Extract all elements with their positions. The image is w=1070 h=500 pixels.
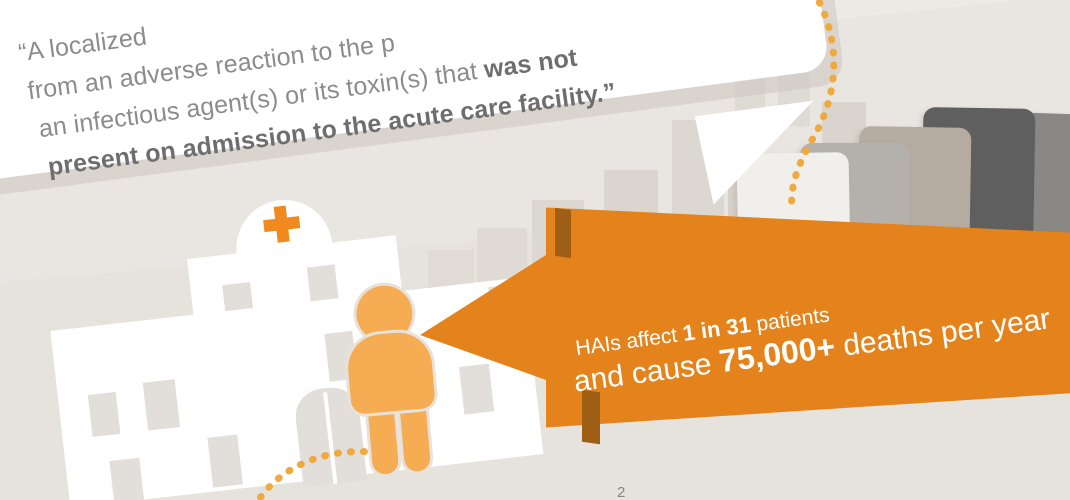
orange-patient-figure [337, 281, 453, 474]
arrow-fold-top [555, 208, 571, 258]
page-number: 2 [617, 484, 625, 500]
hospital-window [88, 392, 121, 437]
hospital-window [207, 435, 242, 488]
infographic-canvas: 4071 4071 4071 4071 4071 [0, 0, 1070, 500]
quote-line-3b: was not [482, 44, 579, 84]
patient-body [345, 330, 435, 415]
hospital-window [109, 458, 144, 500]
statistics-arrow-banner: HAIs affect 1 in 31 patients and cause 7… [420, 195, 1070, 455]
hospital-window [143, 379, 180, 430]
